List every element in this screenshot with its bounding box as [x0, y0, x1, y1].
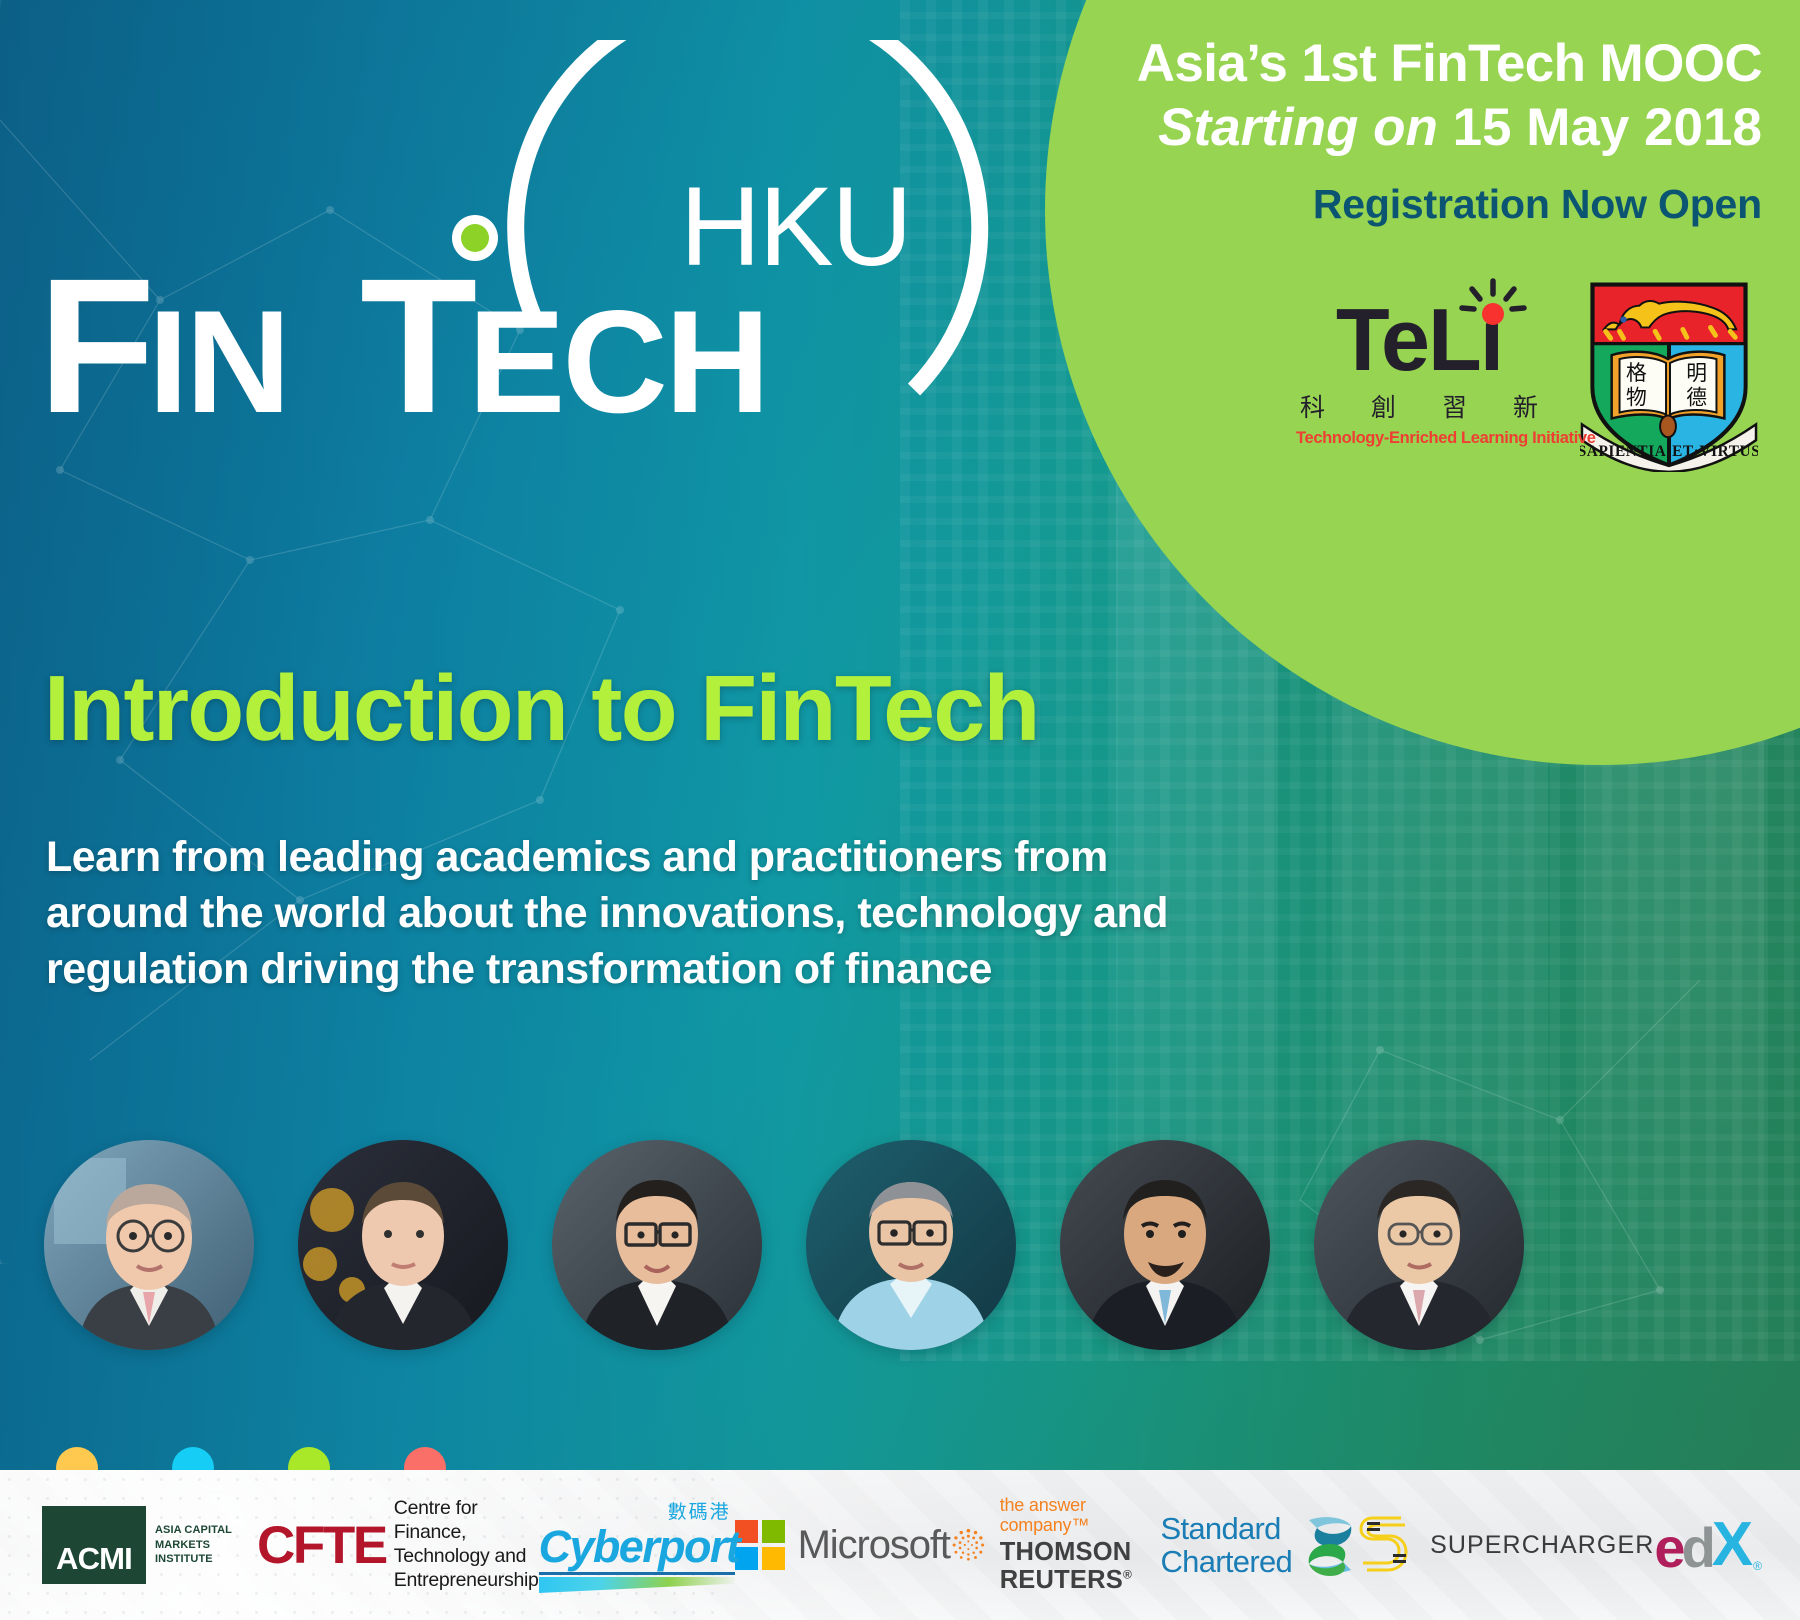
standard-chartered-helix-icon — [1303, 1512, 1357, 1578]
poster-root: F IN T ECH HKU Asia’s 1st FinTech MOOC S… — [0, 0, 1800, 1620]
edx-letter-x: X — [1712, 1517, 1751, 1573]
acmi-subtitle: ASIA CAPITAL MARKETS INSTITUTE — [155, 1523, 251, 1568]
hku-crest: 格 物 明 德 SAPIENTIA·ET·VIRTUS — [1580, 278, 1758, 472]
cfte-fullname: Centre for Finance, Technology and Entre… — [394, 1497, 539, 1592]
speaker-portrait-2 — [298, 1140, 508, 1350]
speaker-portrait-6 — [1314, 1140, 1524, 1350]
logo-thomson-reuters[interactable]: the answer company™ THOMSON REUTERS® — [950, 1495, 1161, 1594]
portrait-photo-1 — [44, 1140, 254, 1350]
edx-wordmark: e d X ® — [1654, 1517, 1762, 1573]
lightbulb-spark-icon — [1458, 278, 1528, 326]
logo-supercharger[interactable]: SUPERCHARGER — [1357, 1514, 1654, 1576]
footer-logo-row: ACMI ASIA CAPITAL MARKETS INSTITUTE CFTE… — [0, 1470, 1800, 1620]
promo-line-2-italic: Starting on — [1158, 98, 1452, 157]
edx-letter-e: e — [1654, 1523, 1681, 1573]
speaker-portrait-3 — [552, 1140, 762, 1350]
fintech-wordmark-in: IN — [148, 280, 288, 443]
cfte-line3: Entrepreneurship — [394, 1569, 539, 1593]
microsoft-squares-icon — [735, 1520, 785, 1570]
standard-chartered-wordmark: Standard Chartered — [1161, 1512, 1293, 1579]
acmi-mark: ACMI — [56, 1541, 132, 1577]
crest-char-ming: 明 — [1686, 361, 1707, 385]
portrait-photo-3 — [552, 1140, 762, 1350]
thomson-reuters-text: the answer company™ THOMSON REUTERS® — [1000, 1495, 1161, 1594]
cyberport-rule — [539, 1572, 735, 1575]
microsoft-square-yellow — [762, 1547, 785, 1570]
speaker-portrait-1 — [44, 1140, 254, 1350]
portrait-photo-2 — [298, 1140, 508, 1350]
teli-chinese-3: 習 — [1442, 388, 1467, 424]
crest-char-wu: 物 — [1626, 386, 1647, 410]
promo-line-1: Asia’s 1st FinTech MOOC — [922, 36, 1762, 92]
thomson-reuters-registered: ® — [1123, 1568, 1132, 1582]
logo-standard-chartered[interactable]: Standard Chartered — [1161, 1512, 1358, 1579]
promo-block: Asia’s 1st FinTech MOOC Starting on 15 M… — [922, 36, 1762, 227]
top-partner-logos: TeLi 科 創 習 新 Technology-E — [1296, 278, 1758, 472]
crest-char-de: 德 — [1686, 386, 1707, 410]
supercharger-wordmark: SUPERCHARGER — [1430, 1531, 1654, 1560]
fintech-wordmark-f: F — [38, 238, 149, 453]
cyberport-chinese: 數碼港 — [539, 1497, 735, 1524]
fintech-wordmark-t: T — [360, 238, 476, 453]
hku-wordmark: HKU — [680, 164, 910, 289]
teli-wordmark-row: TeLi — [1296, 294, 1542, 386]
thomson-reuters-name-text: THOMSON REUTERS — [1000, 1538, 1132, 1595]
speaker-portrait-5 — [1060, 1140, 1270, 1350]
body-description: Learn from leading academics and practit… — [46, 830, 1256, 998]
promo-line-2-date: 15 May 2018 — [1453, 98, 1762, 157]
logo-acmi[interactable]: ACMI ASIA CAPITAL MARKETS INSTITUTE — [42, 1506, 251, 1584]
cfte-line2: Technology and — [394, 1545, 539, 1569]
fintech-hku-logo: F IN T ECH HKU — [20, 40, 1030, 560]
teli-chinese-1: 科 — [1300, 388, 1325, 424]
thomson-reuters-tagline: the answer company™ — [1000, 1495, 1161, 1535]
promo-line-3: Registration Now Open — [922, 182, 1762, 227]
teli-chinese-4: 新 — [1513, 388, 1538, 424]
thomson-reuters-dots-icon — [950, 1514, 987, 1576]
speaker-portrait-row — [44, 1140, 1524, 1350]
teli-logo: TeLi 科 創 習 新 Technology-E — [1296, 278, 1542, 448]
teli-chinese-row: 科 創 習 新 — [1296, 388, 1542, 424]
supercharger-mark-icon — [1357, 1514, 1417, 1576]
cyberport-swoosh-icon — [539, 1577, 735, 1593]
page-title: Introduction to FinTech — [44, 655, 1039, 762]
cfte-line1: Centre for Finance, — [394, 1497, 539, 1545]
standard-chartered-line2: Chartered — [1161, 1545, 1293, 1578]
crest-char-ge: 格 — [1626, 361, 1647, 385]
portrait-photo-6 — [1314, 1140, 1524, 1350]
fintech-wordmark-ech: ECH — [468, 280, 767, 443]
edx-registered: ® — [1753, 1559, 1762, 1573]
portrait-photo-4 — [806, 1140, 1016, 1350]
acmi-subtitle-line2: MARKETS INSTITUTE — [155, 1538, 251, 1568]
logo-cfte[interactable]: CFTE Centre for Finance, Technology and … — [257, 1497, 539, 1592]
logo-cyberport[interactable]: 數碼港 Cyberport — [539, 1497, 735, 1593]
teli-tagline: Technology-Enriched Learning Initiative — [1296, 429, 1542, 448]
cyberport-wordmark: Cyberport — [539, 1524, 735, 1570]
acmi-mark-box: ACMI — [42, 1506, 146, 1584]
promo-line-2: Starting on 15 May 2018 — [922, 98, 1762, 157]
portrait-photo-5 — [1060, 1140, 1270, 1350]
speaker-portrait-4 — [806, 1140, 1016, 1350]
cfte-mark: CFTE — [257, 1519, 386, 1572]
teli-chinese-2: 創 — [1371, 388, 1396, 424]
logo-edx[interactable]: e d X ® — [1654, 1517, 1762, 1573]
microsoft-square-green — [762, 1520, 785, 1543]
logo-microsoft[interactable]: Microsoft — [735, 1520, 950, 1570]
footer-bar: ACMI ASIA CAPITAL MARKETS INSTITUTE CFTE… — [0, 1470, 1800, 1620]
microsoft-wordmark: Microsoft — [798, 1523, 950, 1568]
thomson-reuters-wordmark: THOMSON REUTERS® — [1000, 1538, 1161, 1595]
acmi-subtitle-line1: ASIA CAPITAL — [155, 1523, 251, 1538]
crest-motto-text: SAPIENTIA·ET·VIRTUS — [1580, 443, 1758, 460]
standard-chartered-line1: Standard — [1161, 1512, 1293, 1545]
edx-letter-d: d — [1682, 1523, 1712, 1573]
